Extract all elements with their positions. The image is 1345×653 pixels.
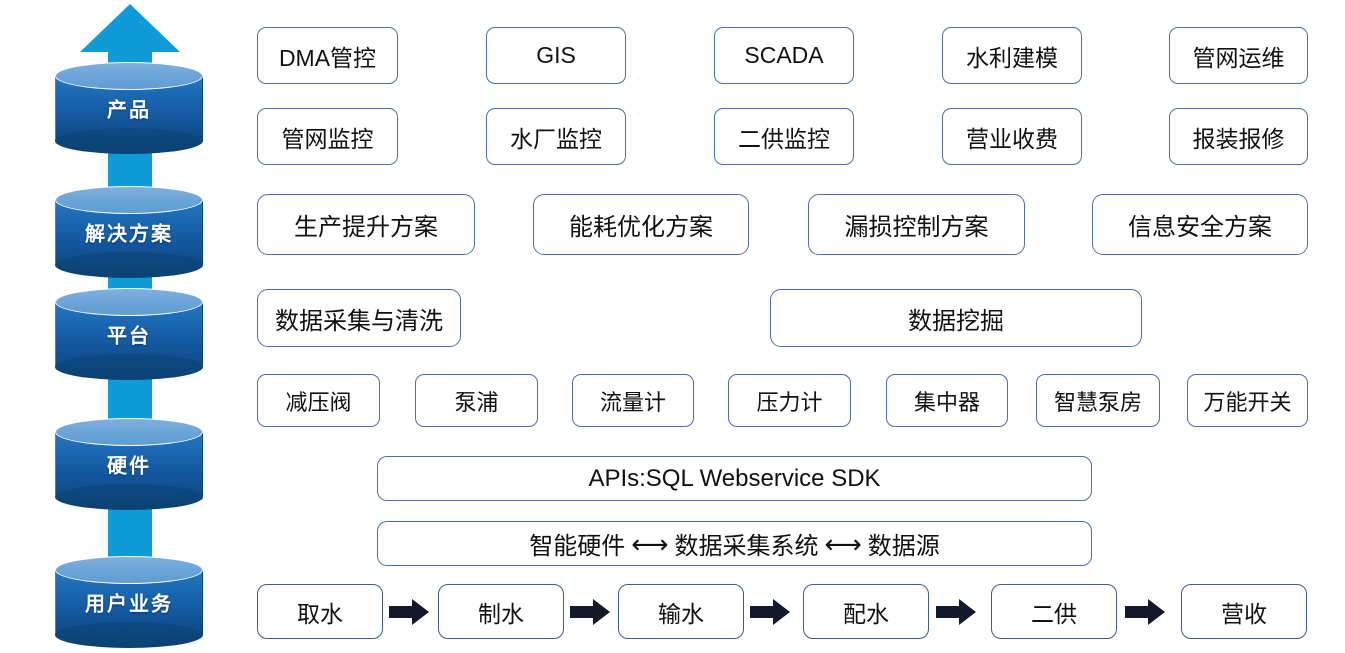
solution-item-security[interactable]: 信息安全方案: [1092, 194, 1308, 255]
hardware-item-smart-pump-house[interactable]: 智慧泵房: [1036, 374, 1160, 427]
layer-label-product: 产品: [55, 94, 203, 123]
data-chain-node-data-source: 数据源: [868, 526, 940, 561]
product-item-dma[interactable]: DMA管控: [257, 27, 398, 84]
business-flow-step-transmission[interactable]: 输水: [618, 584, 744, 639]
double-arrow-icon: ⟷: [625, 531, 674, 557]
product-item-installation-repair[interactable]: 报装报修: [1169, 108, 1308, 165]
hardware-item-pressure-reducing-valve[interactable]: 减压阀: [257, 374, 380, 427]
business-flow-step-revenue[interactable]: 营收: [1181, 584, 1307, 639]
hardware-item-pump[interactable]: 泵浦: [415, 374, 538, 427]
layer-label-platform: 平台: [55, 320, 203, 349]
business-flow-step-secondary-supply[interactable]: 二供: [991, 584, 1117, 639]
hardware-item-concentrator[interactable]: 集中器: [886, 374, 1008, 427]
architecture-diagram: 产品 解决方案 平台 硬件 用户业务 DMA管: [0, 0, 1345, 653]
flow-arrow-icon-5: [1125, 599, 1165, 625]
data-chain-node-collection-system: 数据采集系统: [675, 526, 819, 561]
product-item-hydraulic-model[interactable]: 水利建模: [942, 27, 1082, 84]
data-chain-bar[interactable]: 智能硬件 ⟷ 数据采集系统 ⟷ 数据源: [377, 521, 1092, 566]
product-item-network-om[interactable]: 管网运维: [1169, 27, 1308, 84]
hardware-item-universal-switch[interactable]: 万能开关: [1187, 374, 1308, 427]
flow-arrow-icon-3: [750, 599, 790, 625]
solution-item-production[interactable]: 生产提升方案: [257, 194, 475, 255]
product-item-secondary-supply-monitor[interactable]: 二供监控: [714, 108, 854, 165]
business-flow-step-distribution[interactable]: 配水: [803, 584, 929, 639]
product-item-scada[interactable]: SCADA: [714, 27, 854, 84]
double-arrow-icon: ⟷: [819, 531, 868, 557]
platform-item-data-mining[interactable]: 数据挖掘: [770, 289, 1142, 347]
solution-item-leakage[interactable]: 漏损控制方案: [808, 194, 1025, 255]
layer-label-solution: 解决方案: [55, 218, 203, 247]
business-flow-step-treatment[interactable]: 制水: [438, 584, 564, 639]
flow-arrow-icon-1: [389, 599, 429, 625]
product-item-network-monitor[interactable]: 管网监控: [257, 108, 398, 165]
layer-label-business: 用户业务: [55, 588, 203, 617]
product-item-plant-monitor[interactable]: 水厂监控: [486, 108, 626, 165]
hardware-item-flow-meter[interactable]: 流量计: [572, 374, 694, 427]
solution-item-energy[interactable]: 能耗优化方案: [533, 194, 749, 255]
hardware-item-pressure-gauge[interactable]: 压力计: [728, 374, 851, 427]
flow-arrow-icon-2: [570, 599, 610, 625]
product-item-gis[interactable]: GIS: [486, 27, 626, 84]
layer-label-hardware: 硬件: [55, 450, 203, 479]
product-item-billing[interactable]: 营业收费: [942, 108, 1082, 165]
api-bar[interactable]: APIs:SQL Webservice SDK: [377, 456, 1092, 501]
platform-item-data-collection-cleaning[interactable]: 数据采集与清洗: [257, 289, 461, 347]
business-flow-step-intake[interactable]: 取水: [257, 584, 383, 639]
flow-arrow-icon-4: [936, 599, 976, 625]
data-chain-node-smart-hardware: 智能硬件: [529, 526, 625, 561]
